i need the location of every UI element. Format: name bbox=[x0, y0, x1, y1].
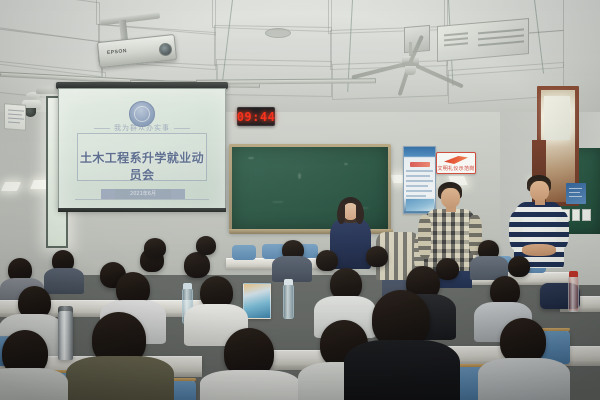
security-camera-icon bbox=[25, 108, 36, 117]
slide-title: 土木工程系升学就业动员会 bbox=[78, 149, 206, 183]
red-swoosh-icon bbox=[444, 156, 468, 164]
water-bottle bbox=[283, 284, 294, 319]
water-bottle bbox=[568, 276, 579, 312]
projection-screen[interactable]: 我为群众办实事 土木工程系升学就业动员会 2021年6月 bbox=[58, 88, 226, 210]
led-clock: 09:44 bbox=[237, 107, 275, 126]
classroom-photo: EPSON 我为群众办实事 土木工程系升学就业动员会 2021年6月 bbox=[0, 0, 600, 400]
slide-subtitle: 我为群众办实事 bbox=[78, 123, 206, 133]
door-glass-panel bbox=[544, 96, 570, 140]
projector-lens-icon bbox=[158, 42, 172, 56]
fan-light-icon bbox=[405, 66, 416, 75]
slide-divider bbox=[75, 199, 209, 200]
slide-footer-text: 2021年6月 bbox=[115, 190, 171, 197]
information-poster bbox=[403, 146, 436, 214]
blackboard-surface bbox=[232, 147, 388, 229]
wall-notice-left bbox=[4, 103, 26, 131]
poster-photo bbox=[406, 199, 434, 211]
red-honor-sign: 文明礼仪示范岗 bbox=[436, 152, 476, 174]
red-sign-text: 文明礼仪示范岗 bbox=[437, 165, 475, 172]
slide-footer-bar: 2021年6月 bbox=[101, 189, 185, 199]
blackboard bbox=[229, 144, 391, 232]
screen-weight-bar bbox=[58, 208, 226, 212]
room-info-plate bbox=[566, 183, 586, 204]
clock-time: 09:44 bbox=[237, 110, 276, 124]
projector-brand-label: EPSON bbox=[107, 48, 128, 56]
ceiling-vent-icon bbox=[265, 28, 291, 38]
thermos-flask bbox=[58, 311, 73, 360]
poster-banner bbox=[410, 162, 430, 167]
slide-title-card: 我为群众办实事 土木工程系升学就业动员会 bbox=[77, 133, 207, 181]
chair-far[interactable] bbox=[232, 245, 256, 260]
